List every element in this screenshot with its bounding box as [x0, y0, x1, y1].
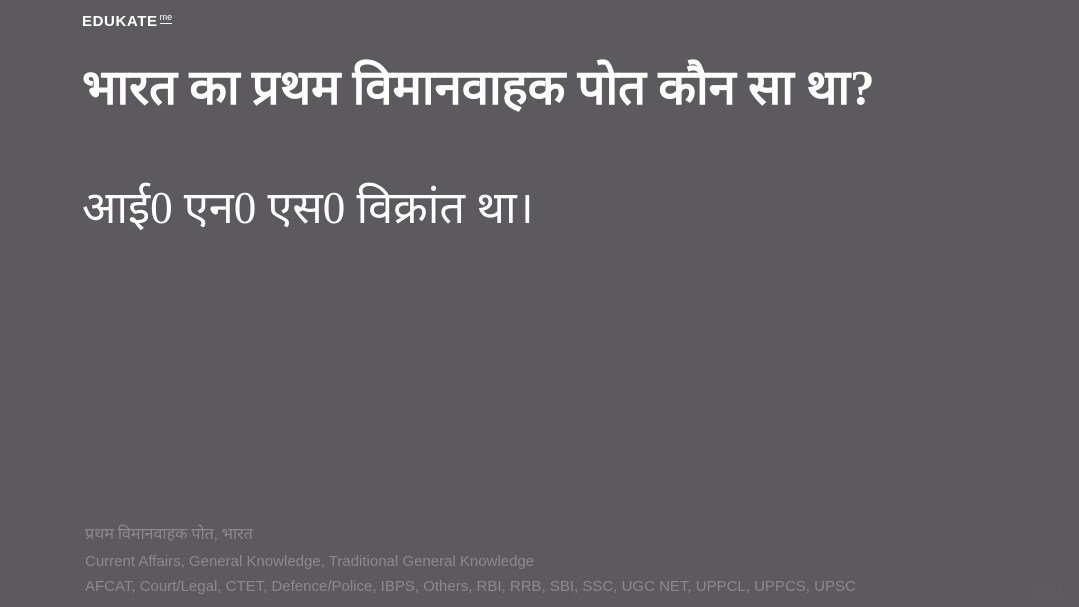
- footer-subjects: Current Affairs, General Knowledge, Trad…: [85, 550, 1059, 574]
- answer-text: आई0 एन0 एस0 विक्रांत था।: [82, 121, 1022, 238]
- watermark-id: 2161: [1030, 582, 1065, 598]
- footer-tags: प्रथम विमानवाहक पोत, भारत: [85, 523, 1059, 550]
- footer: प्रथम विमानवाहक पोत, भारत Current Affair…: [85, 523, 1059, 599]
- footer-exams: AFCAT, Court/Legal, CTET, Defence/Police…: [85, 575, 1059, 599]
- brand-wordmark: EDUKATE: [82, 14, 158, 29]
- question-text: भारत का प्रथम विमानवाहक पोत कौन सा था?: [82, 56, 1022, 121]
- edukate-logo[interactable]: EDUKATE me: [82, 14, 172, 29]
- slide-content: भारत का प्रथम विमानवाहक पोत कौन सा था? आ…: [82, 56, 1022, 237]
- slide-root: EDUKATE me भारत का प्रथम विमानवाहक पोत क…: [0, 0, 1079, 607]
- brand-superscript-me: me: [160, 13, 173, 24]
